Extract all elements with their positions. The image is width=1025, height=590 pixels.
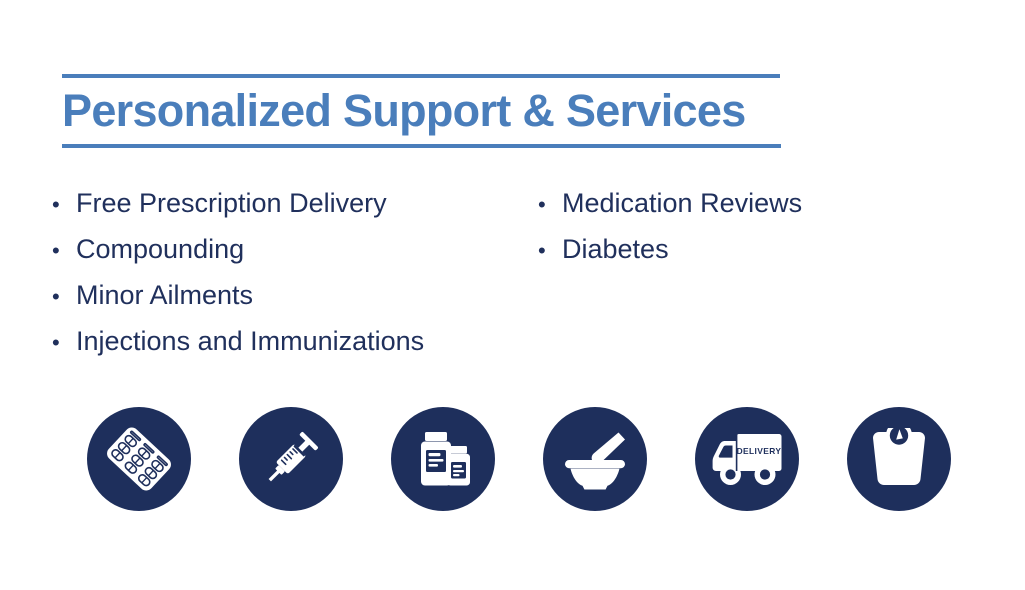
list-item-label: Diabetes [562,226,669,272]
list-item: • Minor Ailments [52,272,532,318]
list-item: • Injections and Immunizations [52,318,532,364]
icon-badge-delivery-truck: DELIVERY [695,407,799,511]
services-column-left: • Free Prescription Delivery • Compoundi… [52,180,532,364]
bullet-dot-icon: • [538,182,562,228]
list-item: • Compounding [52,226,532,272]
service-icon-row: DELIVERY [87,407,952,512]
medicine-bottles-icon [410,426,476,492]
icon-badge-weight-scale [847,407,951,511]
blister-pack-icon [104,424,174,494]
list-item-label: Minor Ailments [76,272,253,318]
icon-badge-syringe [239,407,343,511]
slide-canvas: Personalized Support & Services • Free P… [0,0,1025,590]
bullet-dot-icon: • [538,228,562,274]
bullet-dot-icon: • [52,228,76,274]
title-rule-top [62,74,780,78]
title-rule-bottom [62,144,781,148]
bullet-dot-icon: • [52,274,76,320]
mortar-pestle-icon [559,423,631,495]
services-column-right: • Medication Reviews • Diabetes [538,180,958,272]
weight-scale-icon [866,428,932,490]
list-item: • Medication Reviews [538,180,958,226]
list-item: • Diabetes [538,226,958,272]
bullet-dot-icon: • [52,320,76,366]
syringe-icon [255,423,327,495]
truck-body-text: DELIVERY [737,446,782,456]
list-item-label: Free Prescription Delivery [76,180,387,226]
list-item: • Free Prescription Delivery [52,180,532,226]
title-block: Personalized Support & Services [62,74,780,148]
page-title: Personalized Support & Services [62,79,780,143]
icon-badge-medicine-bottles [391,407,495,511]
bullet-dot-icon: • [52,182,76,228]
delivery-truck-icon: DELIVERY [709,429,785,489]
list-item-label: Compounding [76,226,244,272]
list-item-label: Injections and Immunizations [76,318,424,364]
list-item-label: Medication Reviews [562,180,802,226]
icon-badge-blister-pack [87,407,191,511]
icon-badge-mortar-pestle [543,407,647,511]
